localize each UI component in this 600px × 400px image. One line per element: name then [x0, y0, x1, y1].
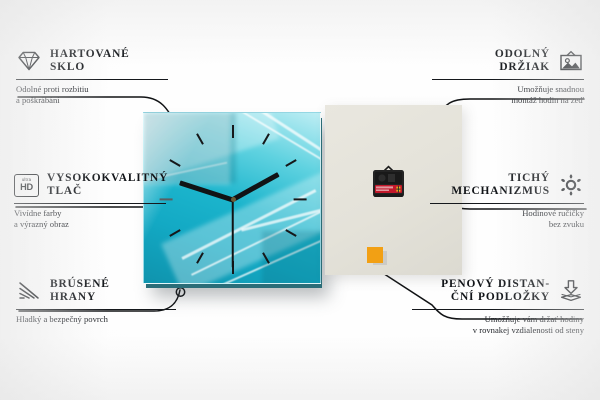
feature-description: Hladký a bezpečný povrch: [16, 314, 176, 325]
clock-hub: [231, 197, 236, 202]
feature-tempered-glass: HARTOVANÉ SKLO Odolné proti rozbitiu a p…: [16, 48, 168, 106]
infographic-canvas: HARTOVANÉ SKLO Odolné proti rozbitiu a p…: [0, 0, 600, 400]
feature-description: Umožňuje vám držať hodiny v rovnakej vzd…: [412, 314, 584, 336]
feature-title: ODOLNÝ DRŽIAK: [495, 48, 550, 75]
polished-edges-icon: [16, 279, 42, 303]
feature-durable-hanger: ODOLNÝ DRŽIAK Umožňuje snadnou montáž ho…: [432, 48, 584, 106]
feature-title: PENOVÝ DISTAN- ČNÍ PODLOŽKY: [441, 278, 550, 305]
feature-description: Odolné proti rozbitiu a poškrábání: [16, 84, 168, 106]
node-polished-edges: [176, 288, 184, 296]
clock-tick-3: [294, 198, 307, 200]
clock-tick-12: [232, 125, 234, 138]
ultra-hd-bottom: HD: [20, 183, 33, 192]
feature-polished-edges: BRÚSENÉ HRANY Hladký a bezpečný povrch: [16, 278, 176, 325]
feature-description: Umožňuje snadnou montáž hodin na zeď: [432, 84, 584, 106]
press-pad-icon: [558, 279, 584, 303]
feature-silent-mechanism: TICHÝ MECHANIZMUS Hodinové ručičky bez z…: [430, 172, 584, 230]
feature-divider: [432, 79, 584, 80]
ultra-hd-icon: ultra HD: [14, 174, 39, 197]
clock-tick-2: [285, 159, 296, 167]
feature-title: TICHÝ MECHANIZMUS: [451, 172, 550, 199]
clock-mechanism: [370, 165, 407, 199]
diamond-icon: [16, 49, 42, 73]
feature-divider: [412, 309, 584, 310]
feature-foam-spacers: PENOVÝ DISTAN- ČNÍ PODLOŽKY Umožňuje vám…: [412, 278, 584, 336]
feature-divider: [16, 309, 176, 310]
foam-spacer-pad: [367, 247, 383, 263]
feature-divider: [16, 79, 168, 80]
feature-description: Vivídne farby a výrazný obraz: [14, 208, 166, 230]
clock-second-hand: [232, 200, 234, 268]
feature-high-quality-print: ultra HD VYSOKOKVALITNÝ TLAČ Vivídne far…: [14, 172, 166, 230]
picture-hanger-icon: [558, 49, 584, 73]
gear-icon: [558, 173, 584, 197]
feature-title: HARTOVANÉ SKLO: [50, 48, 130, 75]
feature-title: BRÚSENÉ HRANY: [50, 278, 110, 305]
feature-title: VYSOKOKVALITNÝ TLAČ: [47, 172, 168, 199]
feature-divider: [14, 203, 166, 204]
wall-clock-face: [143, 112, 321, 284]
feature-divider: [430, 203, 584, 204]
feature-description: Hodinové ručičky bez zvuku: [430, 208, 584, 230]
